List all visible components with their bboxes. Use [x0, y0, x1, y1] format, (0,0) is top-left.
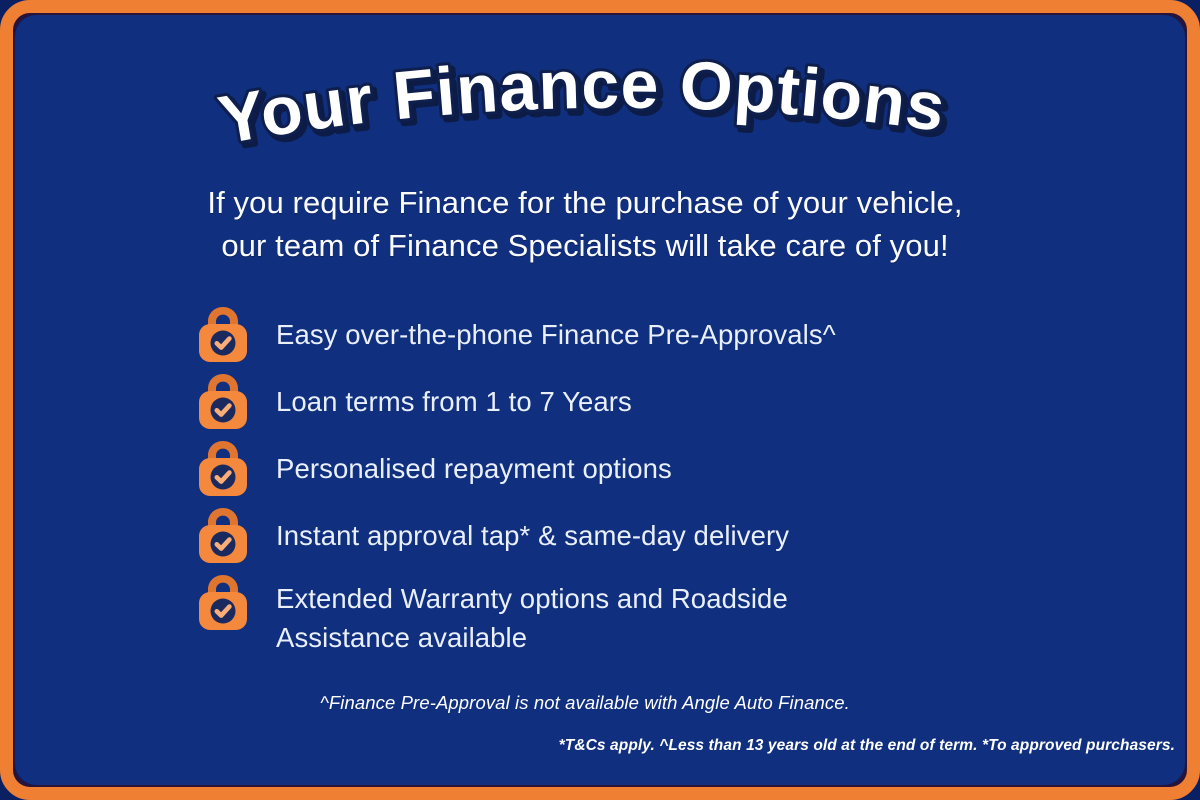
padlock-check-icon: [195, 505, 251, 565]
benefits-list: Easy over-the-phone Finance Pre-Approval…: [195, 303, 1075, 658]
list-item-label: Loan terms from 1 to 7 Years: [276, 370, 1075, 421]
list-item: Extended Warranty options and Roadside A…: [195, 571, 1075, 657]
disclaimer-text: *T&Cs apply. ^Less than 13 years old at …: [175, 737, 1175, 755]
list-item: Personalised repayment options: [195, 437, 1075, 503]
subtitle-line-1: If you require Finance for the purchase …: [0, 181, 1170, 224]
padlock-check-icon: [195, 371, 251, 431]
list-item: Easy over-the-phone Finance Pre-Approval…: [195, 303, 1075, 369]
padlock-check-icon: [195, 304, 251, 364]
list-item-label: Personalised repayment options: [276, 437, 1075, 488]
title-text: Your Finance Options: [213, 47, 950, 159]
padlock-check-icon: [195, 438, 251, 498]
page-title: Your Finance Options Your Finance Option…: [0, 40, 1170, 170]
list-item-label-block: Extended Warranty options and Roadside A…: [276, 571, 1075, 657]
footnote-text: ^Finance Pre-Approval is not available w…: [0, 692, 1170, 714]
finance-options-poster: Your Finance Options Your Finance Option…: [0, 0, 1200, 800]
list-item-label: Extended Warranty options and Roadside: [276, 579, 1075, 618]
arched-title-svg: Your Finance Options Your Finance Option…: [0, 40, 1170, 170]
subtitle: If you require Finance for the purchase …: [0, 181, 1170, 267]
list-item-label: Easy over-the-phone Finance Pre-Approval…: [276, 303, 1075, 354]
padlock-check-icon: [195, 572, 251, 632]
list-item-label-second-line: Assistance available: [276, 618, 1075, 657]
subtitle-line-2: our team of Finance Specialists will tak…: [0, 224, 1170, 267]
list-item-label: Instant approval tap* & same-day deliver…: [276, 504, 1075, 555]
list-item: Instant approval tap* & same-day deliver…: [195, 504, 1075, 570]
list-item: Loan terms from 1 to 7 Years: [195, 370, 1075, 436]
